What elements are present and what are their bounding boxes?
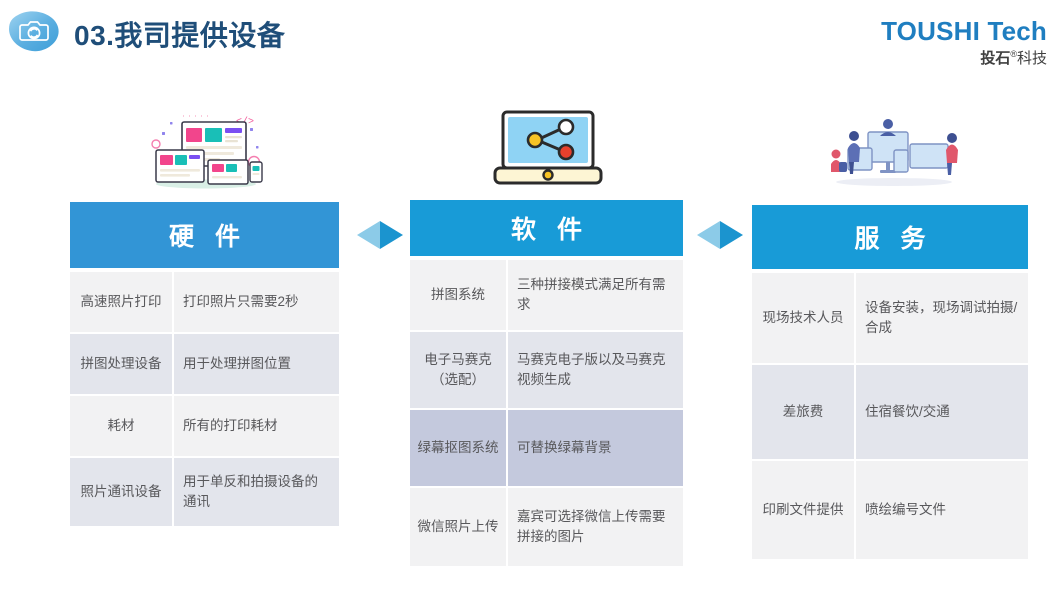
row-value: 三种拼接模式满足所有需求: [508, 260, 683, 330]
row-value: 马赛克电子版以及马赛克视频生成: [508, 332, 683, 408]
table-row[interactable]: 差旅费 住宿餐饮/交通: [752, 365, 1028, 461]
hardware-table: 硬 件 高速照片打印 打印照片只需要2秒 拼图处理设备 用于处理拼图位置 耗材 …: [70, 202, 339, 526]
row-key: 高速照片打印: [70, 272, 174, 332]
row-key: 照片通讯设备: [70, 458, 174, 526]
table-row[interactable]: 现场技术人员 设备安装，现场调试拍摄/合成: [752, 273, 1028, 365]
hardware-table-header: 硬 件: [70, 202, 339, 268]
table-row-highlighted[interactable]: 绿幕抠图系统 可替换绿幕背景: [410, 410, 683, 488]
people-screens-service-illustration: [824, 110, 964, 190]
flow-arrow-1: [357, 219, 403, 251]
logo-cn-text: 投石®科技: [881, 50, 1047, 66]
row-value: 可替换绿幕背景: [508, 410, 683, 486]
table-row[interactable]: 耗材 所有的打印耗材: [70, 396, 339, 458]
row-value: 设备安装，现场调试拍摄/合成: [856, 273, 1028, 363]
row-key: 拼图处理设备: [70, 334, 174, 394]
devices-webpage-illustration: </>: [140, 100, 270, 192]
service-table-header: 服 务: [752, 205, 1028, 269]
row-value: 嘉宾可选择微信上传需要拼接的图片: [508, 488, 683, 566]
logo-cn-regular: 科技: [1017, 50, 1047, 67]
service-table: 服 务 现场技术人员 设备安装，现场调试拍摄/合成 差旅费 住宿餐饮/交通 印刷…: [752, 205, 1028, 559]
logo-en-text: TOUSHI Tech: [881, 18, 1047, 44]
table-row[interactable]: 电子马赛克（选配） 马赛克电子版以及马赛克视频生成: [410, 332, 683, 410]
table-row[interactable]: 拼图处理设备 用于处理拼图位置: [70, 334, 339, 396]
row-key: 差旅费: [752, 365, 856, 459]
row-value: 用于处理拼图位置: [174, 334, 339, 394]
software-table: 软 件 拼图系统 三种拼接模式满足所有需求 电子马赛克（选配） 马赛克电子版以及…: [410, 200, 683, 566]
logo-cn-bold: 投石: [980, 50, 1010, 67]
laptop-share-network-illustration: [487, 104, 609, 192]
table-row[interactable]: 印刷文件提供 喷绘编号文件: [752, 461, 1028, 559]
software-table-header: 软 件: [410, 200, 683, 256]
row-value: 住宿餐饮/交通: [856, 365, 1028, 459]
table-row[interactable]: 高速照片打印 打印照片只需要2秒: [70, 272, 339, 334]
page-title: 03.我司提供设备: [74, 14, 285, 54]
camera-sync-icon: [6, 9, 62, 53]
trademark-mark: ®: [1010, 49, 1017, 59]
flow-arrow-2: [697, 219, 743, 251]
row-key: 印刷文件提供: [752, 461, 856, 559]
row-key: 耗材: [70, 396, 174, 456]
row-key: 现场技术人员: [752, 273, 856, 363]
table-row[interactable]: 拼图系统 三种拼接模式满足所有需求: [410, 260, 683, 332]
row-key: 绿幕抠图系统: [410, 410, 508, 486]
row-value: 喷绘编号文件: [856, 461, 1028, 559]
slide-header: 03.我司提供设备 TOUSHI Tech 投石®科技: [0, 0, 1061, 62]
row-value: 用于单反和拍摄设备的通讯: [174, 458, 339, 526]
brand-logo: TOUSHI Tech 投石®科技: [881, 18, 1047, 66]
row-key: 微信照片上传: [410, 488, 508, 566]
row-value: 打印照片只需要2秒: [174, 272, 339, 332]
row-key: 拼图系统: [410, 260, 508, 330]
row-key: 电子马赛克（选配）: [410, 332, 508, 408]
row-value: 所有的打印耗材: [174, 396, 339, 456]
table-row[interactable]: 微信照片上传 嘉宾可选择微信上传需要拼接的图片: [410, 488, 683, 566]
table-row[interactable]: 照片通讯设备 用于单反和拍摄设备的通讯: [70, 458, 339, 526]
